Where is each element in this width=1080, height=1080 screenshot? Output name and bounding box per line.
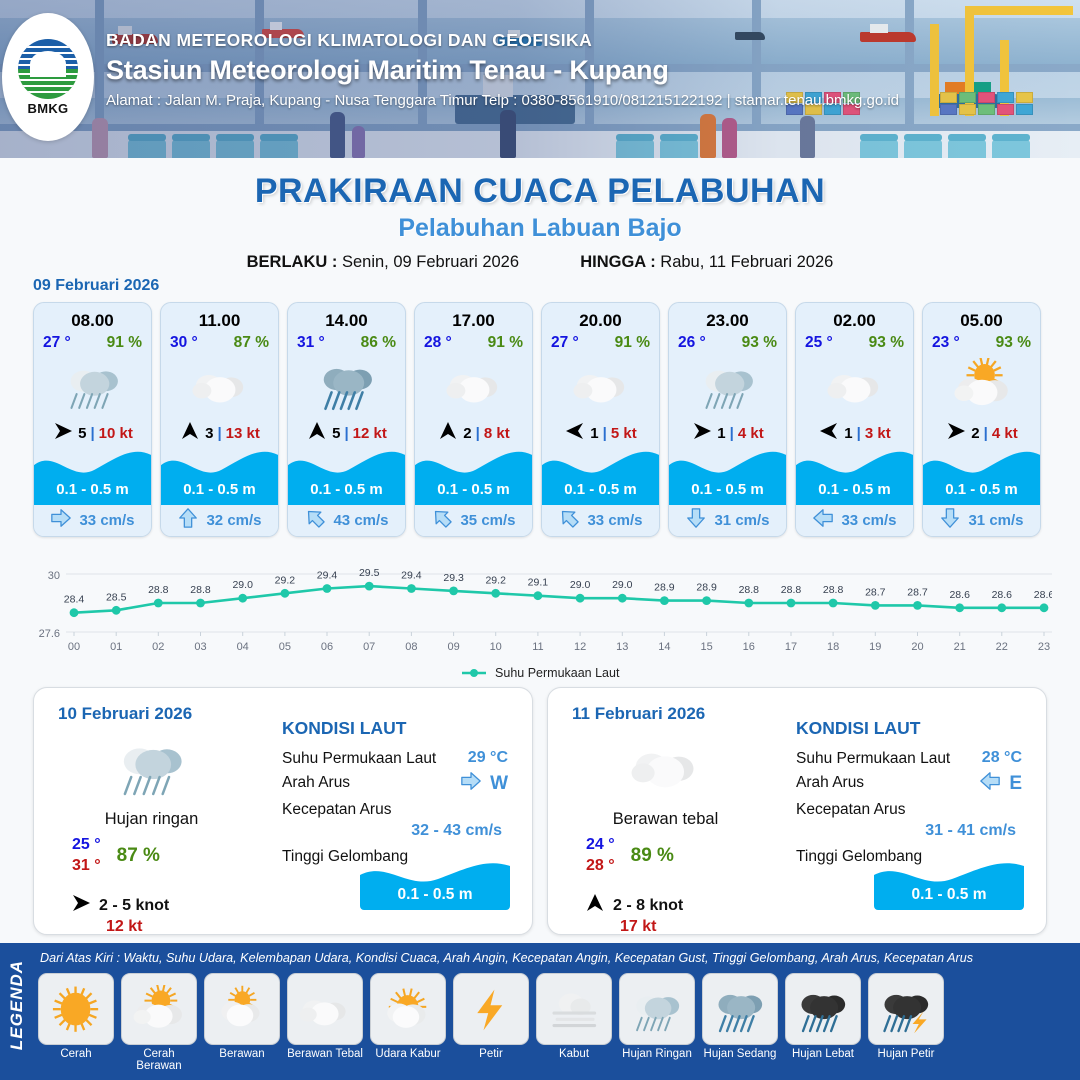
svg-text:19: 19 (869, 641, 881, 653)
wind-direction-arrow-icon (564, 420, 586, 447)
legend-item: Udara Kabur (370, 973, 446, 1072)
chart-legend: Suhu Permukaan Laut (0, 666, 1080, 681)
wind-direction-arrow-icon (584, 892, 606, 919)
panel-row-sst-label: Suhu Permukaan Laut (796, 750, 950, 768)
svg-text:07: 07 (363, 641, 375, 653)
panel-temperatures: 25 ° 31 ° 87 % (72, 836, 272, 875)
current-direction-arrow-icon (812, 507, 834, 534)
cerah-berawan-icon (121, 973, 197, 1045)
card-wave: 0.1 - 0.5 m (415, 448, 532, 505)
hujan-ringan-icon (669, 352, 786, 418)
svg-text:01: 01 (110, 641, 122, 653)
hujan-lebat-icon (785, 973, 861, 1045)
berawan-icon (204, 973, 280, 1045)
svg-text:29.0: 29.0 (612, 579, 633, 591)
hujan-sedang-icon (288, 352, 405, 418)
forecast-card: 14.00 31 ° 86 % 5 | 12 kt 0.1 - 0.5 m 43… (287, 302, 406, 537)
card-wind-separator: | (217, 425, 221, 442)
svg-text:09: 09 (447, 641, 459, 653)
svg-text:12: 12 (574, 641, 586, 653)
panel-sea-title: KONDISI LAUT (282, 718, 406, 739)
legend-item-label: Berawan (204, 1048, 280, 1060)
card-wind-speed: 2 (971, 425, 979, 442)
current-direction-arrow-icon (304, 507, 326, 534)
card-wind-separator: | (857, 425, 861, 442)
wind-direction-arrow-icon (945, 420, 967, 447)
svg-text:29.0: 29.0 (232, 579, 253, 591)
svg-text:13: 13 (616, 641, 628, 653)
svg-text:28.5: 28.5 (106, 591, 127, 603)
card-current: 33 cm/s (542, 505, 659, 536)
card-wind-speed: 3 (205, 425, 213, 442)
panel-row-sst-value: 29 °C (468, 749, 508, 767)
berawan-tebal-icon (415, 352, 532, 418)
svg-text:29.2: 29.2 (275, 574, 296, 586)
panel-wave-box: 0.1 - 0.5 m (360, 860, 510, 910)
card-wave: 0.1 - 0.5 m (34, 448, 151, 505)
card-temperature: 23 ° (932, 334, 960, 352)
card-current-speed: 33 cm/s (79, 512, 134, 529)
card-current: 31 cm/s (669, 505, 786, 536)
svg-text:30: 30 (48, 570, 60, 582)
panel-temp-min: 25 ° (72, 836, 101, 854)
berlaku-value: Senin, 09 Februari 2026 (342, 253, 519, 271)
svg-text:03: 03 (194, 641, 206, 653)
legend-item-label: Hujan Lebat (785, 1048, 861, 1060)
bmkg-logo-text: BMKG (28, 101, 69, 116)
forecast-card: 08.00 27 ° 91 % 5 | 10 kt 0.1 - 0.5 m 33… (33, 302, 152, 537)
legend-item-label: Hujan Sedang (702, 1048, 778, 1060)
petir-icon (453, 973, 529, 1045)
berawan-tebal-icon (287, 973, 363, 1045)
svg-text:28.6: 28.6 (1034, 589, 1052, 601)
page-header: BMKG BADAN METEOROLOGI KLIMATOLOGI DAN G… (0, 0, 1080, 158)
daily-forecast-panel: 11 Februari 2026 Berawan tebal 24 ° 28 °… (547, 687, 1047, 935)
legend-item: Kabut (536, 973, 612, 1072)
current-direction-arrow-icon (460, 770, 482, 797)
card-time: 05.00 (923, 303, 1040, 331)
card-wave-height: 0.1 - 0.5 m (34, 481, 151, 498)
card-wave-height: 0.1 - 0.5 m (542, 481, 659, 498)
card-humidity: 86 % (361, 334, 396, 352)
legend-item: Hujan Sedang (702, 973, 778, 1072)
berawan-tebal-icon (610, 728, 720, 804)
svg-text:28.8: 28.8 (823, 584, 844, 596)
card-temperature: 26 ° (678, 334, 706, 352)
forecast-date-label: 09 Februari 2026 (33, 277, 159, 295)
card-current: 33 cm/s (796, 505, 913, 536)
legend-item-label: Kabut (536, 1048, 612, 1060)
card-humidity: 93 % (996, 334, 1031, 352)
card-humidity: 91 % (107, 334, 142, 352)
hujan-sedang-icon (702, 973, 778, 1045)
svg-text:29.1: 29.1 (528, 577, 549, 589)
card-current-speed: 33 cm/s (587, 512, 642, 529)
panel-wind: 2 - 8 knot (584, 892, 683, 919)
card-time: 08.00 (34, 303, 151, 331)
card-wind: 1 | 5 kt (542, 418, 659, 448)
panel-humidity: 87 % (117, 845, 160, 867)
validity-period: BERLAKU : Senin, 09 Februari 2026 HINGGA… (0, 253, 1080, 272)
card-wind-speed: 5 (332, 425, 340, 442)
panel-row-current-speed-value: 32 - 43 cm/s (411, 822, 502, 840)
legend-item: Hujan Petir (868, 973, 944, 1072)
svg-text:10: 10 (490, 641, 502, 653)
forecast-card: 02.00 25 ° 93 % 1 | 3 kt 0.1 - 0.5 m 33 … (795, 302, 914, 537)
berlaku-label: BERLAKU : (247, 253, 338, 271)
legend-item-label: Cerah (38, 1048, 114, 1060)
berawan-tebal-icon (542, 352, 659, 418)
legend-item: Berawan (204, 973, 280, 1072)
sst-chart: 3027.628.40028.50128.80228.80329.00429.2… (28, 560, 1052, 670)
current-direction-arrow-icon (558, 507, 580, 534)
card-wind: 3 | 13 kt (161, 418, 278, 448)
legend-section: LEGENDA Dari Atas Kiri : Waktu, Suhu Uda… (0, 943, 1080, 1080)
wind-direction-arrow-icon (437, 420, 459, 447)
panel-wind-range: 2 - 5 knot (99, 897, 169, 915)
panel-wave-value: 0.1 - 0.5 m (874, 886, 1024, 904)
current-direction-arrow-icon (50, 507, 72, 534)
card-time: 23.00 (669, 303, 786, 331)
svg-text:04: 04 (237, 641, 249, 653)
legend-item: Petir (453, 973, 529, 1072)
panel-row-current-speed-label: Kecepatan Arus (796, 801, 905, 819)
card-current-speed: 31 cm/s (968, 512, 1023, 529)
current-direction-arrow-icon (979, 770, 1001, 797)
panel-temp-max: 31 ° (72, 857, 101, 875)
card-wind-speed: 5 (78, 425, 86, 442)
forecast-card: 17.00 28 ° 91 % 2 | 8 kt 0.1 - 0.5 m 35 … (414, 302, 533, 537)
card-temperature: 27 ° (551, 334, 579, 352)
card-wind: 5 | 12 kt (288, 418, 405, 448)
svg-text:21: 21 (954, 641, 966, 653)
card-gust: 10 kt (99, 425, 133, 442)
station-name: Stasiun Meteorologi Maritim Tenau - Kupa… (106, 55, 899, 86)
card-wave: 0.1 - 0.5 m (923, 448, 1040, 505)
card-current: 33 cm/s (34, 505, 151, 536)
card-wind-speed: 1 (590, 425, 598, 442)
svg-text:28.4: 28.4 (64, 594, 85, 606)
card-wind: 5 | 10 kt (34, 418, 151, 448)
hujan-ringan-icon (34, 352, 151, 418)
svg-text:29.4: 29.4 (317, 570, 338, 582)
svg-text:06: 06 (321, 641, 333, 653)
legend-item: Cerah Berawan (121, 973, 197, 1072)
card-gust: 3 kt (865, 425, 891, 442)
svg-text:28.8: 28.8 (148, 584, 169, 596)
svg-text:29.0: 29.0 (570, 579, 591, 591)
card-current-speed: 43 cm/s (333, 512, 388, 529)
svg-text:22: 22 (996, 641, 1008, 653)
card-wave-height: 0.1 - 0.5 m (923, 481, 1040, 498)
card-wind-separator: | (476, 425, 480, 442)
legend-item-label: Petir (453, 1048, 529, 1060)
svg-text:28.6: 28.6 (949, 589, 970, 601)
svg-text:29.2: 29.2 (485, 574, 506, 586)
daily-forecast-panel: 10 Februari 2026 Hujan ringan 25 ° 31 ° … (33, 687, 533, 935)
svg-text:28.6: 28.6 (992, 589, 1013, 601)
card-wave: 0.1 - 0.5 m (542, 448, 659, 505)
forecast-card: 05.00 23 ° 93 % 2 | 4 kt 0.1 - 0.5 m 31 … (922, 302, 1041, 537)
card-wave-height: 0.1 - 0.5 m (796, 481, 913, 498)
card-wave: 0.1 - 0.5 m (288, 448, 405, 505)
svg-text:00: 00 (68, 641, 80, 653)
card-current-speed: 33 cm/s (841, 512, 896, 529)
svg-text:16: 16 (743, 641, 755, 653)
forecast-card: 11.00 30 ° 87 % 3 | 13 kt 0.1 - 0.5 m 32… (160, 302, 279, 537)
panel-row-current-dir-value: W (460, 770, 508, 797)
card-wave: 0.1 - 0.5 m (796, 448, 913, 505)
panel-wind: 2 - 5 knot (70, 892, 169, 919)
svg-text:14: 14 (658, 641, 670, 653)
legend-side-text: LEGENDA (7, 955, 27, 1055)
card-current-speed: 32 cm/s (206, 512, 261, 529)
card-temperature: 30 ° (170, 334, 198, 352)
legend-items: Cerah Cerah Berawan Berawan Berawan Teba… (38, 973, 1074, 1072)
card-wind-separator: | (603, 425, 607, 442)
card-time: 11.00 (161, 303, 278, 331)
legend-item-label: Cerah Berawan (121, 1048, 197, 1072)
panel-gust: 17 kt (620, 918, 656, 936)
legend-item-label: Hujan Ringan (619, 1048, 695, 1060)
card-wind-separator: | (730, 425, 734, 442)
hingga-value: Rabu, 11 Februari 2026 (660, 253, 833, 271)
legend-item: Berawan Tebal (287, 973, 363, 1072)
card-current-speed: 35 cm/s (460, 512, 515, 529)
panel-row-current-dir-label: Arah Arus (282, 774, 350, 792)
panel-row-current-speed-label: Kecepatan Arus (282, 801, 391, 819)
panel-row-current-dir-label: Arah Arus (796, 774, 864, 792)
cerah-icon (38, 973, 114, 1045)
card-humidity: 93 % (742, 334, 777, 352)
svg-text:28.7: 28.7 (865, 586, 886, 598)
card-wave-height: 0.1 - 0.5 m (288, 481, 405, 498)
panel-date: 11 Februari 2026 (572, 704, 705, 724)
panel-condition: Berawan tebal (548, 810, 783, 829)
svg-text:28.8: 28.8 (739, 584, 760, 596)
panel-gust: 12 kt (106, 918, 142, 936)
card-wind: 2 | 8 kt (415, 418, 532, 448)
panel-row-current-dir-value: E (979, 770, 1022, 797)
wind-direction-arrow-icon (179, 420, 201, 447)
card-wind-speed: 1 (844, 425, 852, 442)
wind-direction-arrow-icon (306, 420, 328, 447)
hourly-forecast-cards: 08.00 27 ° 91 % 5 | 10 kt 0.1 - 0.5 m 33… (33, 302, 1047, 537)
card-current: 35 cm/s (415, 505, 532, 536)
card-humidity: 93 % (869, 334, 904, 352)
card-temperature: 27 ° (43, 334, 71, 352)
svg-text:20: 20 (911, 641, 923, 653)
wind-direction-arrow-icon (691, 420, 713, 447)
report-title-block: PRAKIRAAN CUACA PELABUHAN Pelabuhan Labu… (0, 172, 1080, 272)
svg-text:28.9: 28.9 (696, 582, 717, 594)
card-wind-separator: | (90, 425, 94, 442)
card-current: 32 cm/s (161, 505, 278, 536)
card-gust: 4 kt (738, 425, 764, 442)
card-current-speed: 31 cm/s (714, 512, 769, 529)
card-temperature: 31 ° (297, 334, 325, 352)
hujan-ringan-icon (619, 973, 695, 1045)
legend-item-label: Hujan Petir (868, 1048, 944, 1060)
panel-wind-range: 2 - 8 knot (613, 897, 683, 915)
svg-text:11: 11 (532, 641, 543, 653)
svg-text:29.3: 29.3 (443, 572, 464, 584)
bmkg-logo-mark (18, 39, 78, 99)
legend-item: Hujan Lebat (785, 973, 861, 1072)
panel-wave-box: 0.1 - 0.5 m (874, 860, 1024, 910)
current-direction-arrow-icon (939, 507, 961, 534)
svg-text:28.7: 28.7 (907, 586, 928, 598)
page-subtitle: Pelabuhan Labuan Bajo (0, 214, 1080, 243)
card-wave: 0.1 - 0.5 m (161, 448, 278, 505)
card-time: 17.00 (415, 303, 532, 331)
agency-name: BADAN METEOROLOGI KLIMATOLOGI DAN GEOFIS… (106, 30, 899, 51)
svg-text:17: 17 (785, 641, 797, 653)
card-wind: 1 | 4 kt (669, 418, 786, 448)
legend-item: Cerah (38, 973, 114, 1072)
wind-direction-arrow-icon (818, 420, 840, 447)
card-current: 43 cm/s (288, 505, 405, 536)
kabut-icon (536, 973, 612, 1045)
station-address: Alamat : Jalan M. Praja, Kupang - Nusa T… (106, 92, 899, 109)
berawan-tebal-icon (796, 352, 913, 418)
panel-row-current-speed-value: 31 - 41 cm/s (925, 822, 1016, 840)
card-wave: 0.1 - 0.5 m (669, 448, 786, 505)
svg-text:29.5: 29.5 (359, 567, 380, 579)
card-wave-height: 0.1 - 0.5 m (161, 481, 278, 498)
card-gust: 4 kt (992, 425, 1018, 442)
hujan-ringan-icon (96, 728, 206, 804)
legend-item: Hujan Ringan (619, 973, 695, 1072)
panel-humidity: 89 % (631, 845, 674, 867)
svg-text:28.9: 28.9 (654, 582, 675, 594)
card-time: 02.00 (796, 303, 913, 331)
svg-text:08: 08 (405, 641, 417, 653)
panel-condition: Hujan ringan (34, 810, 269, 829)
card-wave-height: 0.1 - 0.5 m (669, 481, 786, 498)
current-direction-arrow-icon (177, 507, 199, 534)
legend-item-label: Udara Kabur (370, 1048, 446, 1060)
card-gust: 5 kt (611, 425, 637, 442)
wind-direction-arrow-icon (52, 420, 74, 447)
wind-direction-arrow-icon (70, 892, 92, 919)
card-wind-separator: | (984, 425, 988, 442)
panel-sea-title: KONDISI LAUT (796, 718, 920, 739)
panel-current-dir-text: W (490, 773, 508, 795)
card-humidity: 91 % (615, 334, 650, 352)
current-direction-arrow-icon (685, 507, 707, 534)
legend-side-label: LEGENDA (0, 943, 34, 1080)
svg-text:23: 23 (1038, 641, 1050, 653)
svg-text:29.4: 29.4 (401, 570, 422, 582)
panel-temp-min: 24 ° (586, 836, 615, 854)
svg-text:28.8: 28.8 (190, 584, 211, 596)
legend-note: Dari Atas Kiri : Waktu, Suhu Udara, Kele… (40, 951, 1074, 965)
panel-temp-max: 28 ° (586, 857, 615, 875)
card-humidity: 87 % (234, 334, 269, 352)
card-humidity: 91 % (488, 334, 523, 352)
hujan-petir-icon (868, 973, 944, 1045)
panel-wave-value: 0.1 - 0.5 m (360, 886, 510, 904)
svg-text:05: 05 (279, 641, 291, 653)
svg-text:18: 18 (827, 641, 839, 653)
svg-text:28.8: 28.8 (781, 584, 802, 596)
page-title: PRAKIRAAN CUACA PELABUHAN (0, 172, 1080, 211)
card-gust: 13 kt (226, 425, 260, 442)
card-time: 20.00 (542, 303, 659, 331)
cerah-berawan-icon (923, 352, 1040, 418)
panel-row-sst-label: Suhu Permukaan Laut (282, 750, 436, 768)
card-temperature: 25 ° (805, 334, 833, 352)
panel-current-dir-text: E (1009, 773, 1022, 795)
daily-forecast-panels: 10 Februari 2026 Hujan ringan 25 ° 31 ° … (33, 687, 1047, 935)
card-gust: 8 kt (484, 425, 510, 442)
card-wind: 2 | 4 kt (923, 418, 1040, 448)
card-wind-separator: | (344, 425, 348, 442)
chart-legend-swatch (461, 667, 487, 681)
card-wind-speed: 2 (463, 425, 471, 442)
legend-item-label: Berawan Tebal (287, 1048, 363, 1060)
current-direction-arrow-icon (431, 507, 453, 534)
card-wind: 1 | 3 kt (796, 418, 913, 448)
panel-date: 10 Februari 2026 (58, 704, 192, 724)
udara-kabur-icon (370, 973, 446, 1045)
card-temperature: 28 ° (424, 334, 452, 352)
card-time: 14.00 (288, 303, 405, 331)
card-wind-speed: 1 (717, 425, 725, 442)
svg-text:15: 15 (700, 641, 712, 653)
svg-text:27.6: 27.6 (39, 628, 60, 640)
card-gust: 12 kt (353, 425, 387, 442)
berawan-tebal-icon (161, 352, 278, 418)
hingga-label: HINGGA : (580, 253, 655, 271)
forecast-card: 23.00 26 ° 93 % 1 | 4 kt 0.1 - 0.5 m 31 … (668, 302, 787, 537)
panel-row-sst-value: 28 °C (982, 749, 1022, 767)
forecast-card: 20.00 27 ° 91 % 1 | 5 kt 0.1 - 0.5 m 33 … (541, 302, 660, 537)
card-wave-height: 0.1 - 0.5 m (415, 481, 532, 498)
panel-temperatures: 24 ° 28 ° 89 % (586, 836, 786, 875)
card-current: 31 cm/s (923, 505, 1040, 536)
chart-legend-label: Suhu Permukaan Laut (495, 666, 619, 680)
bmkg-logo: BMKG (2, 13, 94, 141)
svg-text:02: 02 (152, 641, 164, 653)
